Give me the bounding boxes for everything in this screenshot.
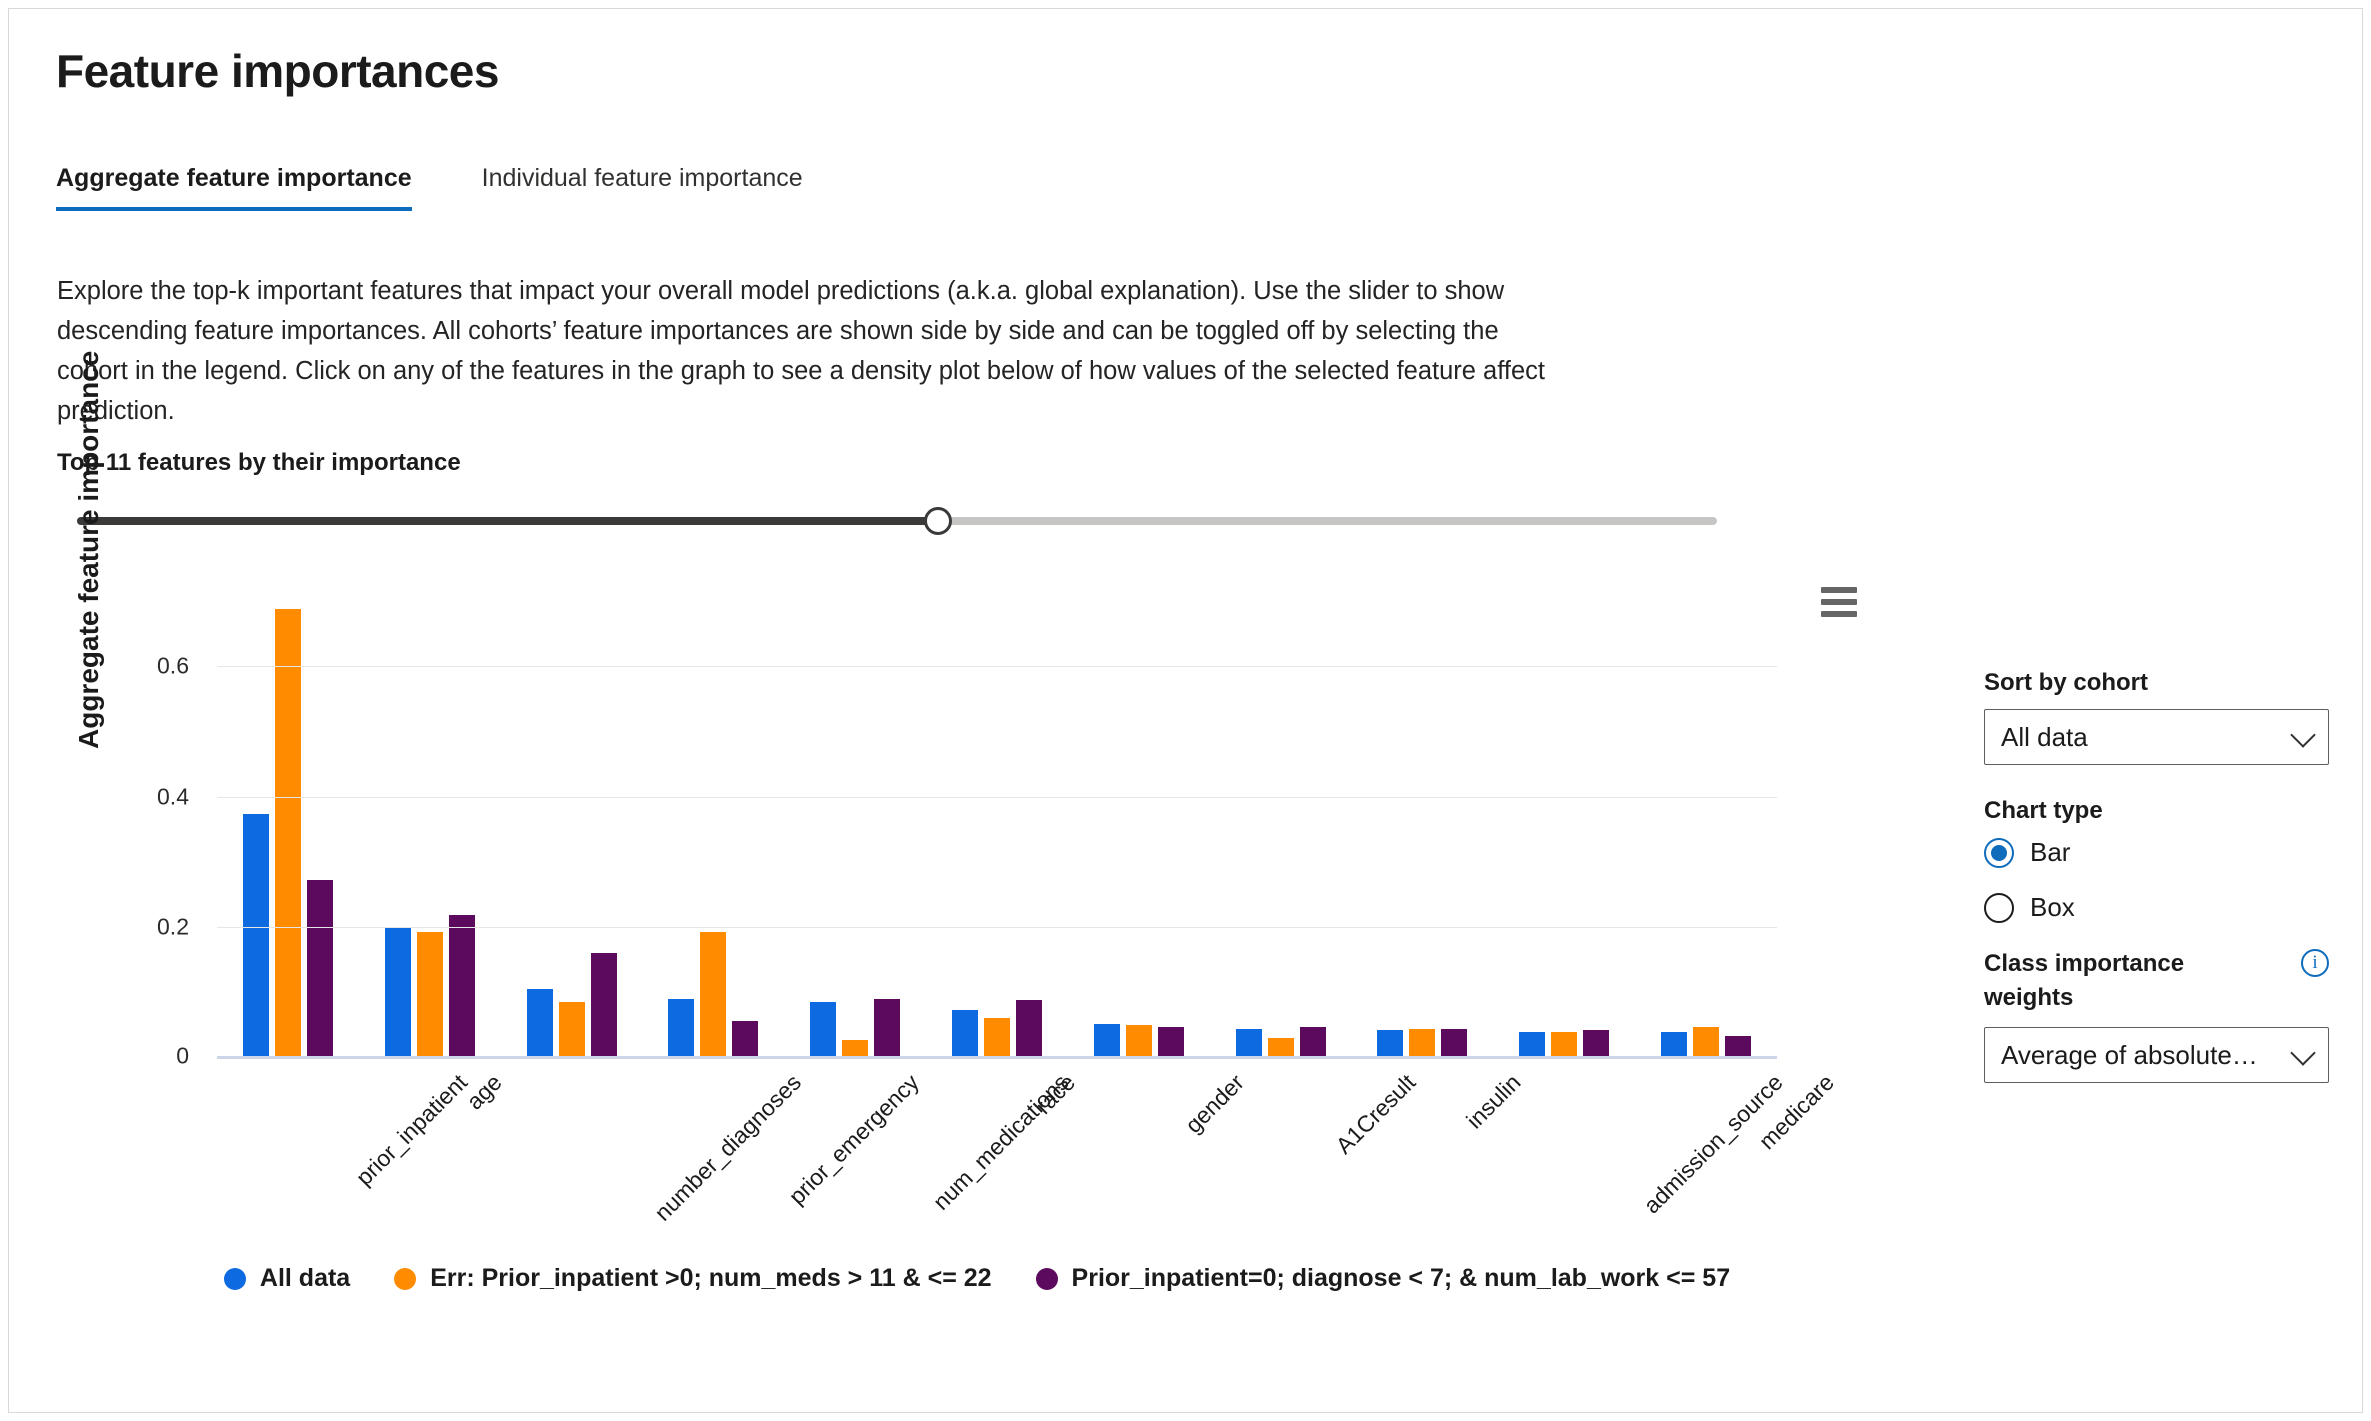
y-axis-title: Aggregate feature importance — [73, 419, 105, 749]
bar[interactable] — [1551, 1032, 1577, 1059]
legend-label: Err: Prior_inpatient >0; num_meds > 11 &… — [430, 1264, 991, 1293]
info-icon[interactable]: i — [2301, 949, 2329, 977]
x-axis-label[interactable]: A1Cresult — [1330, 1069, 1420, 1159]
chevron-down-icon — [2290, 722, 2315, 747]
topk-slider[interactable] — [77, 504, 1717, 538]
radio-box-label: Box — [2030, 892, 2075, 923]
class-importance-weights-header: Class importance weights i — [1984, 947, 2329, 1027]
x-axis-label[interactable]: age — [461, 1069, 507, 1115]
bar-group — [1094, 589, 1184, 1059]
x-axis-label[interactable]: prior_inpatient — [351, 1069, 473, 1191]
hamburger-menu-icon[interactable] — [1821, 587, 1857, 617]
bar[interactable] — [527, 989, 553, 1059]
slider-track-filled — [77, 517, 938, 525]
bar[interactable] — [1377, 1030, 1403, 1059]
bar[interactable] — [1583, 1030, 1609, 1059]
legend-item[interactable]: All data — [224, 1264, 350, 1293]
x-axis-labels: prior_inpatientagenumber_diagnosesprior_… — [217, 1069, 1777, 1269]
x-axis-label[interactable]: number_diagnoses — [649, 1069, 806, 1226]
legend-color-dot — [394, 1268, 416, 1290]
bar[interactable] — [952, 1010, 978, 1059]
bar[interactable] — [1693, 1027, 1719, 1059]
bar[interactable] — [307, 880, 333, 1060]
gridline-0.6: 0.6 — [217, 666, 1777, 667]
sort-by-cohort-dropdown[interactable]: All data — [1984, 709, 2329, 765]
class-importance-weights-label: Class importance weights — [1984, 947, 2244, 1015]
bar[interactable] — [984, 1018, 1010, 1059]
description-text: Explore the top-k important features tha… — [57, 271, 1567, 431]
gridline-0.2: 0.2 — [217, 927, 1777, 928]
legend-label: Prior_inpatient=0; diagnose < 7; & num_l… — [1072, 1264, 1731, 1293]
bar[interactable] — [275, 609, 301, 1059]
gridline-0: 0 — [217, 1056, 1777, 1059]
bar-group — [385, 589, 475, 1059]
bar[interactable] — [874, 999, 900, 1059]
page-title: Feature importances — [56, 44, 499, 98]
bar[interactable] — [1236, 1029, 1262, 1059]
class-importance-weights-dropdown[interactable]: Average of absolute… — [1984, 1027, 2329, 1083]
bar[interactable] — [417, 932, 443, 1059]
tab-list: Aggregate feature importance Individual … — [56, 164, 873, 211]
chart-legend: All dataErr: Prior_inpatient >0; num_med… — [57, 1264, 1897, 1293]
bar[interactable] — [732, 1021, 758, 1059]
radio-bar-icon[interactable] — [1984, 838, 2014, 868]
chevron-down-icon — [2290, 1040, 2315, 1065]
legend-color-dot — [224, 1268, 246, 1290]
legend-color-dot — [1036, 1268, 1058, 1290]
bar-group — [1236, 589, 1326, 1059]
slider-label: Top 11 features by their importance — [57, 449, 461, 477]
bar[interactable] — [810, 1002, 836, 1059]
bar[interactable] — [1016, 1000, 1042, 1059]
gridline-0.4: 0.4 — [217, 797, 1777, 798]
chart-type-option-box[interactable]: Box — [1984, 892, 2329, 923]
bar[interactable] — [1300, 1027, 1326, 1059]
panel-frame: Feature importances Aggregate feature im… — [8, 8, 2363, 1413]
sort-by-cohort-label: Sort by cohort — [1984, 669, 2329, 697]
tab-aggregate-feature-importance[interactable]: Aggregate feature importance — [56, 164, 412, 211]
bar-group — [668, 589, 758, 1059]
chart-controls-panel: Sort by cohort All data Chart type Bar B… — [1984, 669, 2329, 1115]
bar-group — [952, 589, 1042, 1059]
bar[interactable] — [559, 1002, 585, 1059]
bar-group — [243, 589, 333, 1059]
y-tick-label: 0.6 — [157, 653, 189, 680]
y-tick-label: 0.4 — [157, 783, 189, 810]
feature-importance-chart: Aggregate feature importance 00.20.40.6 … — [57, 569, 1897, 1329]
bar[interactable] — [1094, 1024, 1120, 1059]
legend-label: All data — [260, 1264, 350, 1293]
plot-area: 00.20.40.6 — [217, 589, 1777, 1059]
bar[interactable] — [1519, 1032, 1545, 1059]
bar[interactable] — [243, 814, 269, 1059]
radio-bar-label: Bar — [2030, 837, 2070, 868]
tab-individual-feature-importance[interactable]: Individual feature importance — [482, 164, 803, 211]
bar[interactable] — [1158, 1027, 1184, 1059]
bar[interactable] — [385, 928, 411, 1059]
bar[interactable] — [700, 932, 726, 1059]
y-tick-label: 0 — [176, 1043, 189, 1070]
sort-by-cohort-value: All data — [2001, 722, 2088, 753]
bar[interactable] — [1441, 1029, 1467, 1059]
slider-thumb[interactable] — [924, 507, 952, 535]
bar[interactable] — [1126, 1025, 1152, 1059]
bar[interactable] — [668, 999, 694, 1059]
bar[interactable] — [591, 953, 617, 1059]
bar-group — [1519, 589, 1609, 1059]
x-axis-label[interactable]: insulin — [1462, 1069, 1527, 1134]
radio-box-icon[interactable] — [1984, 893, 2014, 923]
chart-type-label: Chart type — [1984, 797, 2329, 825]
bars-layer — [217, 589, 1777, 1059]
bar[interactable] — [1661, 1032, 1687, 1059]
legend-item[interactable]: Err: Prior_inpatient >0; num_meds > 11 &… — [394, 1264, 991, 1293]
bar-group — [1661, 589, 1751, 1059]
y-tick-label: 0.2 — [157, 914, 189, 941]
bar[interactable] — [1409, 1029, 1435, 1059]
x-axis-label[interactable]: prior_emergency — [784, 1069, 925, 1210]
bar-group — [810, 589, 900, 1059]
legend-item[interactable]: Prior_inpatient=0; diagnose < 7; & num_l… — [1036, 1264, 1731, 1293]
bar-group — [527, 589, 617, 1059]
class-importance-weights-value: Average of absolute… — [2001, 1040, 2258, 1071]
bar[interactable] — [449, 915, 475, 1059]
x-axis-label[interactable]: gender — [1180, 1069, 1250, 1139]
chart-type-option-bar[interactable]: Bar — [1984, 837, 2329, 868]
bar-group — [1377, 589, 1467, 1059]
